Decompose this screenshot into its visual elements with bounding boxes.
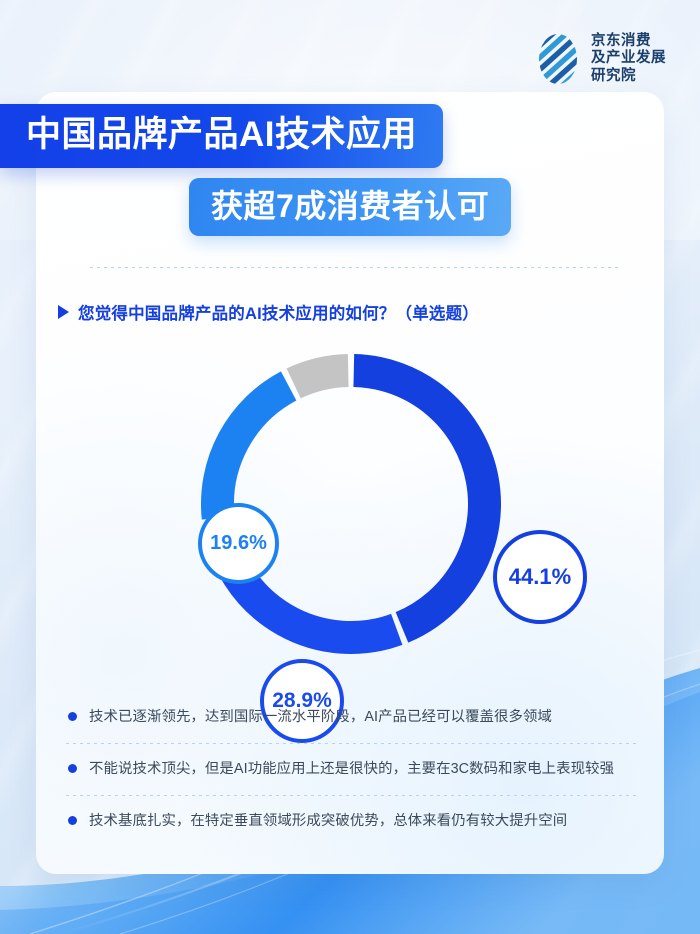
- jd-research-institute-logo-icon: [536, 32, 580, 86]
- list-item-text: 技术已逐渐领先，达到国际一流水平阶段，AI产品已经可以覆盖很多领域: [89, 705, 552, 730]
- list-item: 技术已逐渐领先，达到国际一流水平阶段，AI产品已经可以覆盖很多领域: [66, 692, 638, 743]
- question-row: 您觉得中国品牌产品的AI技术应用的如何？（单选题）: [58, 300, 479, 324]
- bullet-dot-icon: [68, 764, 77, 773]
- percent-bubble-20: 19.6%: [198, 503, 279, 584]
- list-item: 技术基底扎实，在特定垂直领域形成突破优势，总体来看仍有较大提升空间: [66, 796, 638, 847]
- percent-bubble-20-label: 19.6%: [210, 532, 267, 555]
- insight-list: 技术已逐渐领先，达到国际一流水平阶段，AI产品已经可以覆盖很多领域 不能说技术顶…: [66, 692, 638, 847]
- percent-bubble-44-label: 44.1%: [509, 564, 571, 590]
- donut-segments: [217, 371, 484, 638]
- headline-banner-secondary-row: 获超7成消费者认可: [0, 178, 700, 236]
- list-item-text: 技术基底扎实，在特定垂直领域形成突破优势，总体来看仍有较大提升空间: [89, 809, 567, 834]
- brand-logo-text: 京东消费 及产业发展 研究院: [591, 33, 666, 86]
- triangle-bullet-icon: [58, 305, 69, 319]
- bullet-dot-icon: [68, 712, 77, 721]
- brand-logo: 京东消费 及产业发展 研究院: [536, 32, 666, 86]
- headline-block: 中国品牌产品AI技术应用 获超7成消费者认可: [0, 104, 700, 236]
- donut-segment: [294, 371, 349, 384]
- donut-segment: [354, 371, 485, 628]
- divider-above-question: [90, 267, 618, 268]
- bullet-dot-icon: [68, 816, 77, 825]
- list-item: 不能说技术顶尖，但是AI功能应用上还是很快的，主要在3C数码和家电上表现较强: [66, 744, 638, 795]
- headline-banner-secondary: 获超7成消费者认可: [189, 178, 511, 236]
- donut-chart: 44.1% 28.9% 19.6%: [151, 332, 551, 692]
- donut-segment: [217, 386, 288, 518]
- percent-bubble-44: 44.1%: [493, 530, 587, 624]
- headline-banner-primary: 中国品牌产品AI技术应用: [0, 104, 443, 168]
- list-item-text: 不能说技术顶尖，但是AI功能应用上还是很快的，主要在3C数码和家电上表现较强: [89, 757, 614, 782]
- question-label: 您觉得中国品牌产品的AI技术应用的如何？（单选题）: [78, 300, 479, 324]
